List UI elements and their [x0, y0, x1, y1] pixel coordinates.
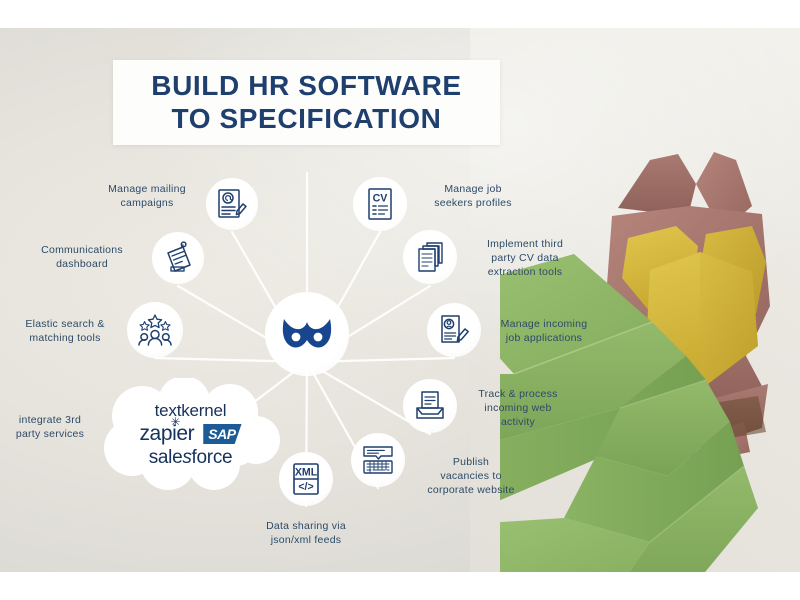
page-title: BUILD HR SOFTWARE TO SPECIFICATION	[113, 60, 500, 145]
label-publish-vacancies: Publish vacancies to corporate website	[412, 456, 530, 498]
node-web-activity[interactable]	[403, 379, 457, 433]
owl-logo-icon	[280, 317, 334, 351]
zapier-asterisk-icon: ✳	[170, 415, 180, 429]
logo-salesforce[interactable]: salesforce	[149, 447, 233, 469]
label-job-applications: Manage incoming job applications	[488, 318, 600, 346]
inbox-tray-icon	[414, 390, 446, 422]
node-elastic-search[interactable]	[127, 302, 183, 358]
logo-zapier-text: zapier	[139, 422, 194, 445]
partner-logo-group: textkernel ✳ zapier SAP salesforce	[98, 378, 283, 490]
keyboard-screen-icon	[361, 445, 395, 475]
node-data-sharing[interactable]: XML </>	[279, 452, 333, 506]
svg-text:</>: </>	[298, 481, 313, 493]
application-form-pencil-icon	[437, 313, 471, 347]
cv-document-icon: CV	[365, 187, 395, 221]
letterbox-bottom	[0, 572, 800, 600]
logo-row: ✳ zapier SAP	[139, 422, 241, 446]
node-job-seekers[interactable]: CV	[353, 177, 407, 231]
svg-text:XML: XML	[295, 467, 318, 479]
letterbox-top	[0, 0, 800, 28]
label-third-party-services: integrate 3rd party services	[4, 414, 96, 442]
svg-text:CV: CV	[373, 193, 388, 205]
node-third-party-services[interactable]: textkernel ✳ zapier SAP salesforce	[98, 378, 283, 490]
logo-zapier[interactable]: ✳ zapier	[139, 422, 194, 446]
node-job-applications[interactable]	[427, 303, 481, 357]
logo-textkernel[interactable]: textkernel	[155, 401, 227, 421]
logo-sap[interactable]: SAP	[203, 424, 241, 444]
title-line-1: BUILD HR SOFTWARE	[151, 70, 461, 102]
infographic-canvas: BUILD HR SOFTWARE TO SPECIFICATION Manag…	[0, 0, 800, 600]
central-hub-node[interactable]	[265, 292, 349, 376]
people-stars-icon	[137, 313, 173, 347]
xml-code-icon: XML </>	[290, 462, 322, 496]
node-cv-extraction[interactable]	[403, 230, 457, 284]
label-job-seekers: Manage job seekers profiles	[418, 183, 528, 211]
label-communications-dashboard: Communications dashboard	[24, 244, 140, 272]
node-mailing-campaigns[interactable]	[206, 178, 258, 230]
label-data-sharing: Data sharing via json/xml feeds	[248, 520, 364, 548]
label-web-activity: Track & process incoming web activity	[462, 388, 574, 430]
pinned-note-icon	[161, 241, 195, 275]
label-mailing-campaigns: Manage mailing campaigns	[90, 183, 204, 211]
node-communications-dashboard[interactable]	[152, 232, 204, 284]
label-cv-extraction: Implement third party CV data extraction…	[466, 238, 584, 280]
stacked-documents-icon	[414, 241, 446, 273]
email-document-pencil-icon	[215, 187, 249, 221]
label-elastic-search: Elastic search & matching tools	[12, 318, 118, 346]
node-publish-vacancies[interactable]	[351, 433, 405, 487]
title-line-2: TO SPECIFICATION	[172, 103, 442, 135]
